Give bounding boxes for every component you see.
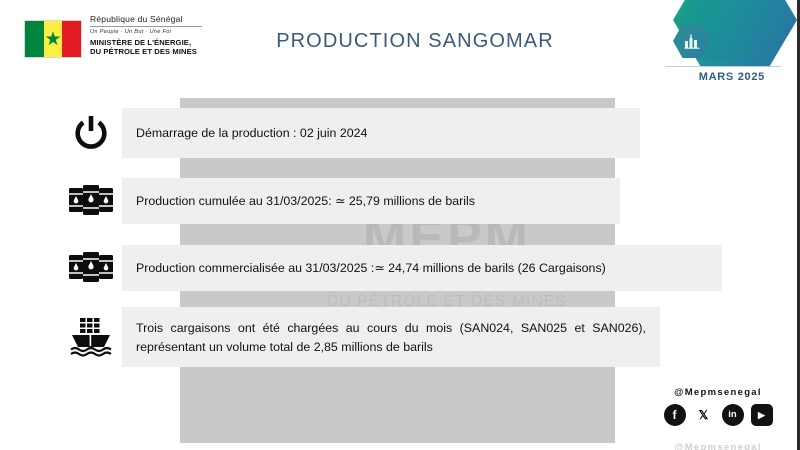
flag-star-icon: ★	[44, 30, 61, 49]
oil-barrels-icon	[60, 248, 122, 288]
row-text: Trois cargaisons ont été chargées au cou…	[122, 307, 660, 367]
flag-band-green	[25, 21, 44, 57]
social-block: @Mepmsenegal f 𝕏 in ▶	[657, 387, 779, 426]
republic-label: République du Sénégal	[90, 14, 210, 24]
slide-canvas: ★ République du Sénégal Un Peuple · Un B…	[0, 0, 800, 450]
header-divider	[90, 26, 202, 27]
hexagon-badge	[667, 0, 800, 66]
row-text: Production commercialisée au 31/03/2025 …	[122, 245, 722, 291]
social-handle: @Mepmsenegal	[657, 387, 779, 398]
motto-label: Un Peuple · Un But · Une Foi	[90, 29, 210, 35]
youtube-icon[interactable]: ▶	[751, 404, 773, 426]
ministry-block: République du Sénégal Un Peuple · Un But…	[90, 14, 210, 57]
senegal-flag-icon: ★	[24, 20, 82, 58]
list-item: Démarrage de la production : 02 juin 202…	[60, 108, 640, 158]
social-handle-ghost: @Mepmsenegal	[657, 442, 779, 450]
list-item: Production commercialisée au 31/03/2025 …	[60, 245, 722, 291]
list-item: Production cumulée au 31/03/2025: ≃ 25,7…	[60, 178, 620, 224]
row-text: Démarrage de la production : 02 juin 202…	[122, 108, 640, 158]
ministry-line-1: MINISTÈRE DE L'ÉNERGIE,	[90, 38, 210, 48]
x-twitter-icon[interactable]: 𝕏	[693, 404, 715, 426]
cargo-ship-icon	[60, 316, 122, 358]
flag-band-yellow: ★	[44, 21, 63, 57]
oil-barrels-icon	[60, 181, 122, 221]
flag-band-red	[62, 21, 81, 57]
facebook-icon[interactable]: f	[664, 404, 686, 426]
row-text: Production cumulée au 31/03/2025: ≃ 25,7…	[122, 178, 620, 224]
list-item: Trois cargaisons ont été chargées au cou…	[60, 307, 660, 367]
power-icon	[60, 113, 122, 153]
month-badge: MARS 2025	[699, 71, 765, 83]
page-title: PRODUCTION SANGOMAR	[250, 30, 580, 53]
badge-divider	[665, 66, 781, 67]
ministry-line-2: DU PÉTROLE ET DES MINES	[90, 47, 210, 57]
linkedin-icon[interactable]: in	[722, 404, 744, 426]
